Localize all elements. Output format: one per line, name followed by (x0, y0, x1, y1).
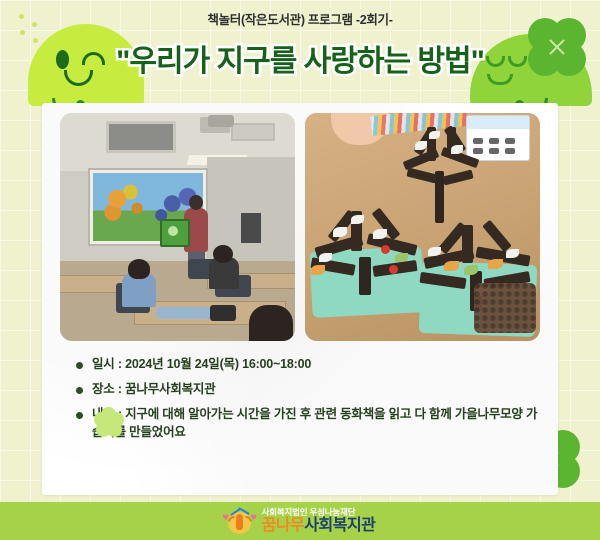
equipment-stand (241, 213, 261, 243)
program-subtitle: 책놀터(작은도서관) 프로그램 -2회기- (0, 9, 600, 28)
craft-materials (156, 307, 216, 319)
list-item: 내용 : 지구에 대해 알아가는 시간을 가진 후 관련 동화책을 읽고 다 함… (62, 405, 542, 441)
bullet-dot-icon (76, 362, 83, 369)
craft-materials (210, 305, 236, 321)
center-name: 꿈나무사회복지관 (262, 518, 376, 534)
detail-content: 내용 : 지구에 대해 알아가는 시간을 가진 후 관련 동화책을 읽고 다 함… (92, 405, 542, 441)
detail-date: 일시 : 2024년 10월 24일(목) 16:00~18:00 (92, 355, 311, 373)
organization-name: 사회복지법인 우성나눔재단 꿈나무사회복지관 (262, 508, 376, 535)
bullet-dot-icon (76, 412, 83, 419)
instructor-head (189, 195, 203, 210)
student (249, 305, 293, 341)
ceiling-vent (231, 123, 275, 141)
content-card: 일시 : 2024년 10월 24일(목) 16:00~18:00 장소 : 꿈… (42, 103, 558, 495)
footer-bar: 사회복지법인 우성나눔재단 꿈나무사회복지관 (0, 502, 600, 540)
poster-canvas: 책놀터(작은도서관) 프로그램 -2회기- "우리가 지구를 사랑하는 방법" (0, 0, 600, 540)
list-item: 일시 : 2024년 10월 24일(목) 16:00~18:00 (62, 355, 542, 373)
page-title: "우리가 지구를 사랑하는 방법" (0, 36, 600, 80)
organization-logo-icon (225, 508, 255, 534)
photo-gallery (60, 113, 540, 341)
bean-bag (474, 283, 536, 333)
student-head (128, 259, 150, 279)
classroom-photo[interactable] (60, 113, 295, 341)
tree-humidifier (311, 209, 423, 295)
bullet-dot-icon (76, 387, 83, 394)
student-head (213, 245, 233, 263)
decor-dot (20, 30, 25, 35)
flower-icon (94, 407, 124, 437)
list-item: 장소 : 꿈나무사회복지관 (62, 380, 542, 398)
ceiling-vent (106, 121, 176, 153)
projector (208, 115, 234, 127)
foundation-name: 사회복지법인 우성나눔재단 (262, 508, 376, 517)
picture-book-art (168, 226, 178, 236)
detail-place: 장소 : 꿈나무사회복지관 (92, 380, 216, 398)
detail-list: 일시 : 2024년 10월 24일(목) 16:00~18:00 장소 : 꿈… (62, 355, 542, 449)
craft-photo[interactable] (305, 113, 540, 341)
